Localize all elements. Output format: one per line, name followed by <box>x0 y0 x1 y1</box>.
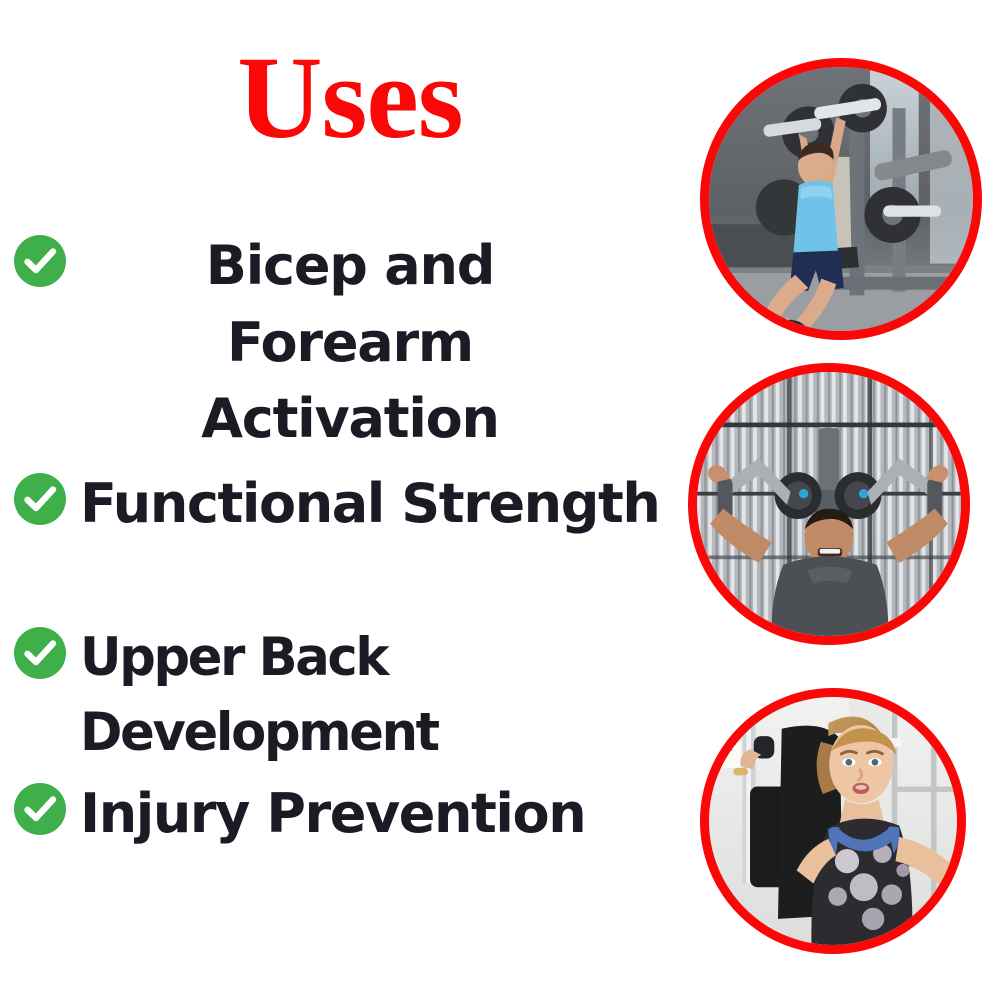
check-circle-icon <box>14 627 66 679</box>
photo-shoulder-press-boy <box>700 58 982 340</box>
photo-pec-deck-woman-image <box>709 697 957 945</box>
photo-pec-deck-woman <box>700 688 966 954</box>
list-item-label: Injury Prevention <box>80 776 585 853</box>
photo-shoulder-press-boy-image <box>709 67 973 331</box>
page-title: Uses <box>0 36 700 160</box>
check-circle-icon <box>14 473 66 525</box>
list-item: Functional Strength <box>14 466 754 543</box>
list-item-label: Bicep and Forearm Activation <box>80 228 620 458</box>
list-item: Upper Back Development <box>14 620 754 771</box>
list-item: Injury Prevention <box>14 776 754 853</box>
check-circle-icon <box>14 783 66 835</box>
photo-overhead-pulldown-man-image <box>697 372 961 636</box>
list-item-label: Functional Strength <box>80 466 659 543</box>
photo-overhead-pulldown-man <box>688 363 970 645</box>
uses-infographic-poster: Uses Bicep and Forearm Activation Functi… <box>0 0 1000 1000</box>
check-circle-icon <box>14 235 66 287</box>
list-item-label: Upper Back Development <box>80 620 730 771</box>
list-item: Bicep and Forearm Activation <box>14 228 754 458</box>
